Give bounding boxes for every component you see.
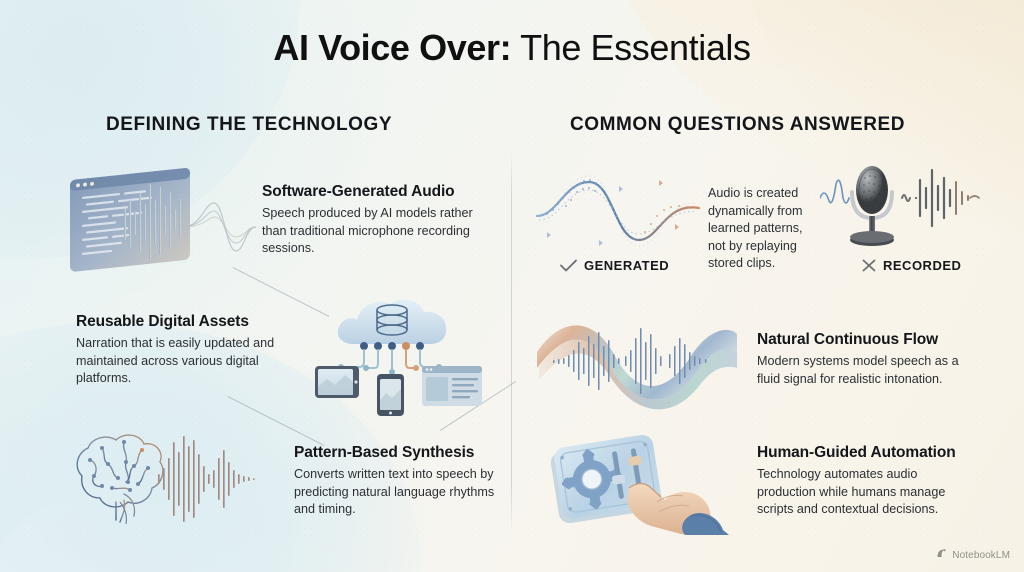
section-heading-left: DEFINING THE TECHNOLOGY — [106, 114, 392, 136]
right-item-1-body: Audio is created dynamically from learne… — [708, 185, 818, 273]
page-title-bold: AI Voice Over: — [273, 27, 511, 68]
icon-dotted-wave — [533, 158, 703, 263]
infographic-canvas: AI Voice Over: The Essentials DEFINING T… — [0, 0, 1024, 572]
column-divider — [511, 150, 512, 532]
check-icon — [560, 259, 577, 272]
left-item-3-text: Pattern-Based Synthesis Converts written… — [294, 444, 502, 519]
left-item-3-body: Converts written text into speech by pre… — [294, 466, 502, 519]
x-icon — [862, 259, 876, 272]
page-title: AI Voice Over: The Essentials — [0, 26, 1024, 70]
notebooklm-icon — [936, 548, 947, 562]
right-item-2-text: Natural Continuous Flow Modern systems m… — [757, 331, 967, 388]
icon-brain-circuit-waveform — [62, 428, 267, 528]
watermark: NotebookLM — [936, 548, 1010, 562]
left-item-2-heading: Reusable Digital Assets — [76, 313, 276, 331]
right-item-3-text: Human-Guided Automation Technology autom… — [757, 444, 969, 519]
badge-generated: GENERATED — [560, 258, 669, 273]
right-item-2-heading: Natural Continuous Flow — [757, 331, 967, 349]
section-heading-right: COMMON QUESTIONS ANSWERED — [570, 114, 905, 136]
icon-microphone-waveform — [820, 158, 980, 263]
left-item-2-text: Reusable Digital Assets Narration that i… — [76, 313, 276, 388]
right-item-2-body: Modern systems model speech as a fluid s… — [757, 353, 967, 388]
left-item-3-heading: Pattern-Based Synthesis — [294, 444, 502, 462]
icon-code-window-waveform — [62, 163, 257, 281]
page-title-light: The Essentials — [511, 27, 750, 68]
icon-cloud-database-devices — [312, 288, 487, 416]
right-item-1-text: Audio is created dynamically from learne… — [708, 185, 818, 273]
right-item-3-heading: Human-Guided Automation — [757, 444, 969, 462]
badge-recorded: RECORDED — [862, 258, 961, 273]
right-item-3-body: Technology automates audio production wh… — [757, 466, 969, 519]
left-item-1-heading: Software-Generated Audio — [262, 183, 484, 201]
watermark-label: NotebookLM — [952, 550, 1010, 561]
icon-control-panel-hand — [533, 430, 741, 535]
left-item-1-body: Speech produced by AI models rather than… — [262, 205, 484, 258]
icon-ribbon-wave — [533, 312, 741, 412]
left-item-2-body: Narration that is easily updated and mai… — [76, 335, 276, 388]
badge-recorded-label: RECORDED — [883, 258, 961, 273]
badge-generated-label: GENERATED — [584, 258, 669, 273]
left-item-1-text: Software-Generated Audio Speech produced… — [262, 183, 484, 258]
